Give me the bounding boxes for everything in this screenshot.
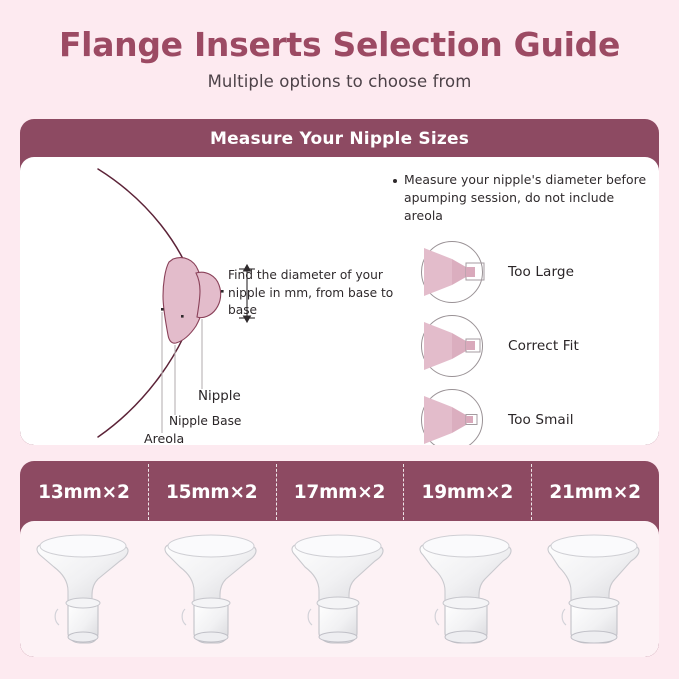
size-header-17mm-label: 17mm×2: [294, 482, 385, 503]
product-cell-15mm[interactable]: [148, 521, 276, 657]
fit-options-list: Too Large Cor: [380, 235, 658, 445]
nipple-base-label: Nipple Base: [169, 414, 241, 428]
flange-insert-icon: [283, 529, 395, 649]
infographic-page: Flange Inserts Selection Guide Multiple …: [0, 0, 679, 679]
fit-option-too-large-label: Too Large: [508, 264, 574, 280]
fit-option-correct-fit: Correct Fit: [380, 309, 658, 383]
areola-label: Areola: [144, 431, 184, 445]
measure-section-card: Measure Your Nipple Sizes: [20, 119, 659, 445]
flange-fit-too-small-icon: [416, 385, 492, 445]
title-block: Flange Inserts Selection Guide Multiple …: [0, 0, 679, 91]
product-cell-13mm[interactable]: [20, 521, 148, 657]
page-subtitle: Multiple options to choose from: [0, 72, 679, 91]
flange-insert-icon: [539, 529, 651, 649]
size-header-13mm[interactable]: 13mm×2: [20, 461, 148, 523]
nipple-label: Nipple: [198, 389, 241, 404]
flange-insert-icon: [411, 529, 523, 649]
fit-option-too-small: Too Smail: [380, 383, 658, 445]
measure-section-body: Find the diameter of your nipple in mm, …: [20, 157, 659, 445]
size-header-19mm[interactable]: 19mm×2: [403, 461, 531, 523]
product-images-row: [20, 521, 659, 657]
fit-option-too-large: Too Large: [380, 235, 658, 309]
fit-option-correct-fit-label: Correct Fit: [508, 338, 579, 354]
bullet-dot-icon: [393, 179, 397, 183]
measure-instruction-text: Measure your nipple's diameter before ap…: [404, 171, 652, 225]
flange-insert-icon: [156, 529, 268, 649]
size-header-21mm-label: 21mm×2: [549, 482, 640, 503]
measure-section-header: Measure Your Nipple Sizes: [20, 119, 659, 159]
flange-insert-icon: [28, 529, 140, 649]
size-header-17mm[interactable]: 17mm×2: [276, 461, 404, 523]
size-header-19mm-label: 19mm×2: [422, 482, 513, 503]
bottom-spacer: [0, 657, 679, 679]
product-cell-21mm[interactable]: [531, 521, 659, 657]
size-header-13mm-label: 13mm×2: [38, 482, 129, 503]
size-header-15mm-label: 15mm×2: [166, 482, 257, 503]
measure-instruction-row: Measure your nipple's diameter before ap…: [380, 171, 658, 225]
size-header-15mm[interactable]: 15mm×2: [148, 461, 276, 523]
product-cell-17mm[interactable]: [276, 521, 404, 657]
flange-fit-correct-icon: [416, 311, 492, 381]
nipple-anatomy-diagram: Find the diameter of your nipple in mm, …: [26, 157, 416, 445]
fit-guide-column: Measure your nipple's diameter before ap…: [380, 171, 658, 445]
sizes-section-card: 13mm×2 15mm×2 17mm×2 19mm×2 21mm×2: [20, 461, 659, 657]
size-header-21mm[interactable]: 21mm×2: [531, 461, 659, 523]
fit-option-too-small-label: Too Smail: [508, 412, 574, 428]
product-cell-19mm[interactable]: [403, 521, 531, 657]
measure-section-header-label: Measure Your Nipple Sizes: [210, 129, 469, 149]
page-title: Flange Inserts Selection Guide: [0, 27, 679, 63]
sizes-header-row: 13mm×2 15mm×2 17mm×2 19mm×2 21mm×2: [20, 461, 659, 523]
flange-fit-too-large-icon: [416, 237, 492, 307]
